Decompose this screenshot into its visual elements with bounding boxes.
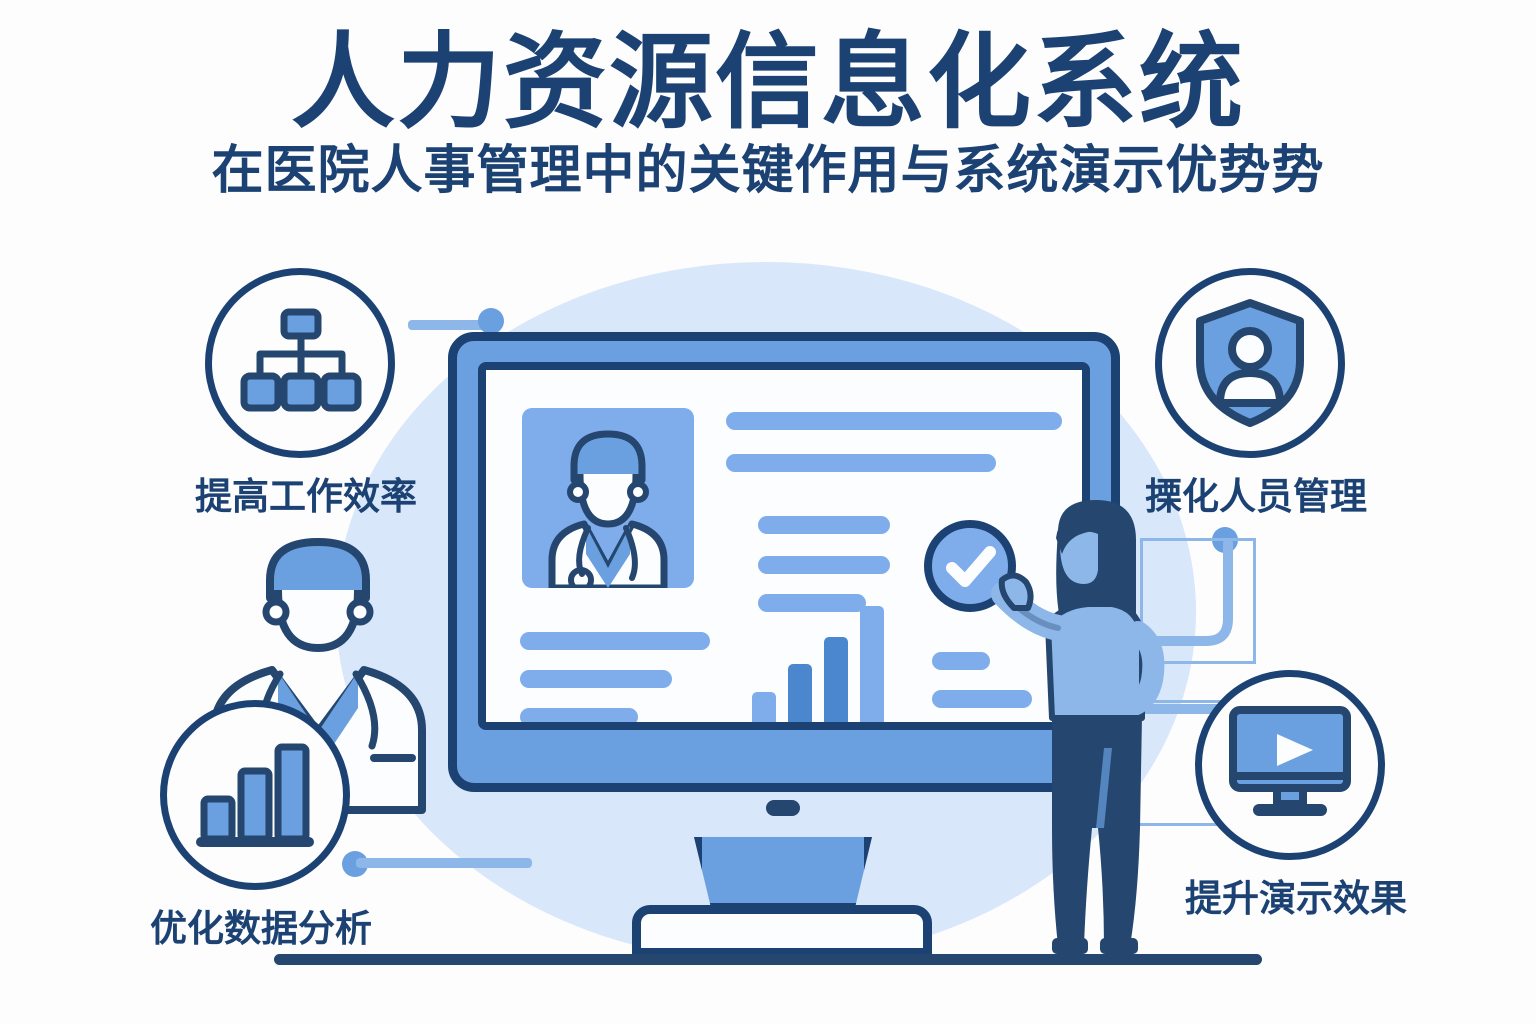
- poster-canvas: 人力资源信息化系统 在医院人事管理中的关键作用与系统演示优势势: [0, 0, 1536, 1024]
- text-row: [726, 454, 996, 472]
- chart-bar-3: [824, 637, 848, 726]
- screen-bar-chart: [752, 606, 892, 726]
- org-chart-icon: [240, 308, 360, 418]
- monitor-screen[interactable]: [478, 362, 1090, 730]
- monitor-stand-base: [632, 905, 932, 957]
- chart-bar-1: [752, 692, 776, 726]
- doctor-avatar-icon: [522, 408, 694, 588]
- presenter-woman-figure: [1000, 498, 1180, 958]
- feature-node-efficiency[interactable]: 提高工作效率: [195, 268, 405, 520]
- avatar-photo-card: [522, 408, 694, 588]
- shield-person-icon: [1193, 299, 1307, 427]
- text-row: [932, 652, 990, 670]
- connector-line-bottom-left: [356, 858, 532, 868]
- feature-node-personnel-management[interactable]: 搮化人员管理: [1145, 268, 1355, 520]
- page-title: 人力资源信息化系统: [0, 28, 1536, 137]
- chart-bar-4: [860, 606, 884, 726]
- video-monitor-icon: [1227, 706, 1353, 824]
- feature-ring: [1155, 268, 1345, 458]
- text-row: [758, 556, 890, 574]
- bar-chart-icon: [194, 741, 316, 849]
- chart-bar-2: [788, 664, 812, 726]
- text-row: [520, 670, 672, 688]
- title-block: 人力资源信息化系统 在医院人事管理中的关键作用与系统演示优势势: [0, 28, 1536, 200]
- text-row: [726, 412, 1062, 430]
- connector-dot-top-left: [478, 308, 504, 334]
- text-row: [520, 632, 710, 650]
- feature-label: 提高工作效率: [195, 466, 405, 520]
- text-row: [758, 516, 890, 534]
- feature-ring: [160, 700, 350, 890]
- page-subtitle: 在医院人事管理中的关键作用与系统演示优势势: [0, 143, 1536, 200]
- feature-ring: [205, 268, 395, 458]
- feature-label: 优化数据分析: [150, 898, 360, 952]
- feature-label: 搮化人员管理: [1145, 466, 1355, 520]
- feature-node-presentation[interactable]: 提升演示效果: [1185, 670, 1395, 922]
- text-row: [520, 708, 638, 726]
- monitor-stand-neck: [694, 837, 872, 911]
- feature-ring: [1195, 670, 1385, 860]
- feature-node-data-analysis[interactable]: 优化数据分析: [150, 700, 360, 952]
- feature-label: 提升演示效果: [1185, 868, 1395, 922]
- monitor-power-indicator: [766, 800, 800, 816]
